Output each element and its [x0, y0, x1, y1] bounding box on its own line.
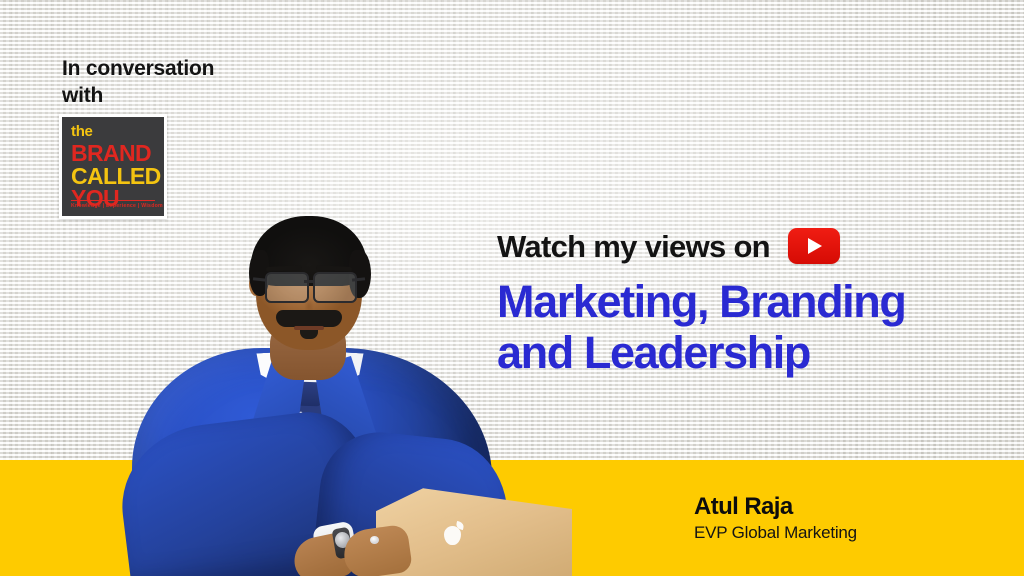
headline-topic: Marketing, Branding and Leadership	[497, 276, 967, 379]
logo-line-the: the	[71, 124, 164, 139]
logo-divider	[71, 200, 155, 201]
youtube-play-icon[interactable]	[788, 228, 840, 264]
person-name: Atul Raja	[694, 495, 793, 519]
watch-row: Watch my views on	[497, 228, 967, 264]
logo-plate: the BRAND CALLED YOU Knowledge | Experie…	[62, 117, 164, 216]
brand-called-you-logo: the BRAND CALLED YOU Knowledge | Experie…	[59, 114, 167, 219]
eyeglasses-lens-right	[313, 272, 357, 303]
nose	[302, 292, 316, 312]
person-role: EVP Global Marketing	[694, 524, 857, 541]
subject-photo	[108, 206, 528, 576]
logo-line-called: CALLED	[71, 165, 164, 188]
finger-ring	[370, 536, 379, 544]
play-triangle-icon	[808, 238, 822, 254]
watch-label: Watch my views on	[497, 231, 770, 262]
moustache	[276, 310, 342, 327]
logo-line-brand: BRAND	[71, 142, 164, 165]
headline-block: Watch my views on Marketing, Branding an…	[497, 228, 967, 379]
kicker-text: In conversation with	[62, 56, 322, 110]
promo-card: In conversation with the BRAND CALLED YO…	[0, 0, 1024, 576]
eyeglasses-bridge	[304, 280, 314, 283]
